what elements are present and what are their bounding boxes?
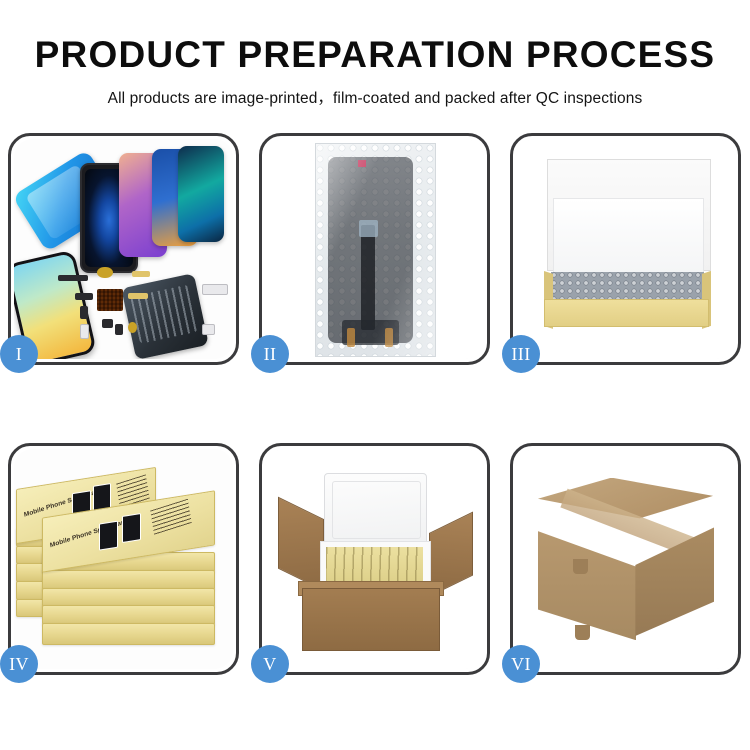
box-front-panel	[544, 299, 708, 327]
step-3-photo	[516, 139, 735, 359]
gold-coil-part	[97, 267, 112, 278]
process-step-panel-2: II	[259, 133, 490, 365]
step-5-photo	[265, 449, 484, 669]
page-title: PRODUCT PREPARATION PROCESS	[0, 0, 750, 75]
grey-bubble-wrap-layer	[551, 272, 704, 300]
retail-box-stack-item	[42, 570, 215, 590]
step-badge-3: III	[502, 335, 540, 373]
header: PRODUCT PREPARATION PROCESS All products…	[0, 0, 750, 128]
step-badge-6: VI	[502, 645, 540, 683]
process-step-panel-1: I	[8, 133, 239, 365]
tweezer-tool	[202, 284, 228, 295]
page-subtitle: All products are image-printed，film-coat…	[0, 75, 750, 108]
carton-front-face	[538, 522, 637, 641]
stacked-retail-boxes-illustration: Mobile Phone Spare Parts Mobile Phone Sp…	[14, 449, 233, 669]
box-window-right	[122, 513, 141, 543]
flex-cable-strip	[58, 275, 89, 281]
white-foam-sheet	[553, 198, 704, 275]
process-step-panel-3: III	[510, 133, 741, 365]
step-4-photo: Mobile Phone Spare Parts Mobile Phone Sp…	[14, 449, 233, 669]
carton-body	[302, 588, 440, 652]
carton-handle-notch-top	[573, 559, 588, 574]
power-flex-cable	[132, 271, 150, 277]
spare-parts-layout-illustration	[14, 139, 233, 359]
sealed-shipping-carton-illustration	[516, 449, 735, 669]
bag-sheen-overlay	[316, 144, 434, 355]
antenna-clip	[102, 319, 113, 328]
process-step-panel-4: Mobile Phone Spare Parts Mobile Phone Sp…	[8, 443, 239, 675]
vibrator-motor	[115, 324, 124, 335]
speaker-module	[75, 293, 93, 300]
step-1-photo	[14, 139, 233, 359]
screw-tray	[97, 289, 123, 311]
process-step-panel-6: VI	[510, 443, 741, 675]
step-badge-2: II	[251, 335, 289, 373]
sim-tray	[80, 324, 90, 339]
retail-box-stack-item	[42, 605, 215, 625]
carton-with-foam-case-illustration	[265, 449, 484, 669]
product-preparation-infographic: PRODUCT PREPARATION PROCESS All products…	[0, 0, 750, 750]
phone-back-housing	[121, 273, 209, 359]
teal-gradient-phone	[178, 146, 224, 243]
carton-flap-left	[278, 497, 324, 592]
foam-lined-box-illustration	[516, 139, 735, 359]
charging-port	[128, 322, 137, 333]
foam-case-lid	[324, 473, 427, 548]
step-badge-4: IV	[0, 645, 38, 683]
process-step-panel-5: V	[259, 443, 490, 675]
bubble-wrap-bag	[315, 143, 435, 356]
step-6-photo	[516, 449, 735, 669]
step-badge-5: V	[251, 645, 289, 683]
step-2-photo	[265, 139, 484, 359]
process-step-grid: I II	[8, 133, 742, 678]
volume-button-flex	[128, 293, 148, 299]
retail-box-stack-item	[42, 623, 215, 645]
stacked-yellow-boxes-inside	[326, 547, 422, 584]
step-badge-1: I	[0, 335, 38, 373]
bubble-wrapped-screen-illustration	[265, 139, 484, 359]
box-window-left	[100, 520, 119, 550]
carton-handle-notch-bottom	[575, 625, 590, 640]
camera-bracket	[80, 306, 89, 319]
screw-set	[202, 324, 215, 335]
